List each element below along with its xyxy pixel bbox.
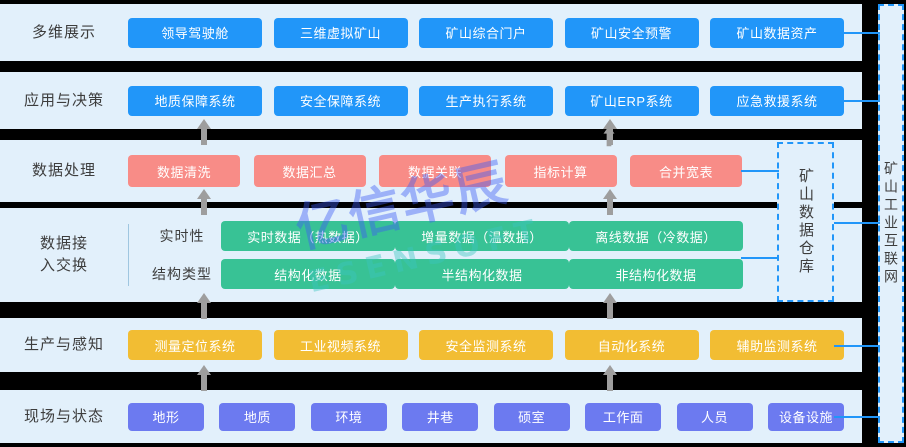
- node-leader-cockpit[interactable]: 领导驾驶舱: [128, 18, 262, 48]
- node-3d-virtual-mine[interactable]: 三维虚拟矿山: [274, 18, 408, 48]
- mine-data-warehouse-box[interactable]: 矿山数据仓库: [777, 142, 834, 302]
- node-unstructured-data[interactable]: 非结构化数据: [569, 259, 743, 289]
- node-terrain[interactable]: 地形: [128, 403, 204, 431]
- access-sub-row-realtime: 实时性 实时数据（热数据） 增量数据（温数据） 离线数据（冷数据）: [143, 221, 743, 251]
- layer-row-production: 生产与感知 测量定位系统 工业视频系统 安全监测系统 自动化系统 辅助监测系统: [0, 318, 862, 372]
- node-industrial-video-system[interactable]: 工业视频系统: [274, 330, 408, 360]
- architecture-diagram: 亿信华辰 ESENSOFT 多维展示 领导驾驶舱 三维虚拟矿山 矿山综合门户 矿…: [0, 0, 906, 447]
- access-sub-items-structure: 结构化数据 半结构化数据 非结构化数据: [221, 259, 743, 289]
- node-structured-data[interactable]: 结构化数据: [221, 259, 395, 289]
- node-merge-wide-table[interactable]: 合并宽表: [630, 155, 742, 187]
- connector-processing-to-warehouse: [741, 170, 779, 172]
- access-sub-rows: 实时性 实时数据（热数据） 增量数据（温数据） 离线数据（冷数据） 结构类型 结…: [143, 221, 743, 289]
- node-auxiliary-monitoring-system[interactable]: 辅助监测系统: [710, 330, 844, 360]
- node-chamber[interactable]: 硕室: [494, 403, 570, 431]
- layer-items-presentation: 领导驾驶舱 三维虚拟矿山 矿山综合门户 矿山安全预警 矿山数据资产: [128, 18, 862, 48]
- node-equipment-facilities[interactable]: 设备设施: [768, 403, 844, 431]
- connector-warehouse-to-iiot: [834, 222, 880, 224]
- layer-label-presentation: 多维展示: [0, 22, 128, 44]
- node-environment[interactable]: 环境: [311, 403, 387, 431]
- node-emergency-rescue-system[interactable]: 应急救援系统: [710, 86, 844, 116]
- flow-arrow-up-processing-to-app: [602, 125, 616, 147]
- node-manufacturing-execution-system[interactable]: 生产执行系统: [419, 86, 553, 116]
- layer-items-field: 地形 地质 环境 井巷 硕室 工作面 人员 设备设施: [128, 403, 862, 431]
- access-sub-label-realtime: 实时性: [143, 226, 221, 246]
- layer-label-application: 应用与决策: [0, 90, 128, 112]
- flow-arrow-up-field-to-production-right: [602, 364, 618, 392]
- mine-industrial-internet-label: 矿山工业互联网: [881, 161, 901, 287]
- node-geology-assurance-system[interactable]: 地质保障系统: [128, 86, 262, 116]
- layer-row-presentation: 多维展示 领导驾驶舱 三维虚拟矿山 矿山综合门户 矿山安全预警 矿山数据资产: [0, 4, 862, 61]
- flow-arrow-up-production-to-access-right: [602, 292, 618, 320]
- connector-field-to-iiot: [834, 416, 880, 418]
- node-safety-assurance-system[interactable]: 安全保障系统: [274, 86, 408, 116]
- node-data-aggregation[interactable]: 数据汇总: [254, 155, 366, 187]
- node-roadway[interactable]: 井巷: [402, 403, 478, 431]
- flow-arrow-up-access-to-processing-left: [196, 188, 212, 216]
- access-divider: [128, 224, 129, 286]
- connector-application-to-iiot: [834, 100, 880, 102]
- flow-arrow-up-access-to-processing-right: [602, 188, 618, 216]
- layer-items-application: 地质保障系统 安全保障系统 生产执行系统 矿山ERP系统 应急救援系统: [128, 86, 862, 116]
- flow-arrow-up-production-to-access-left: [196, 292, 212, 320]
- access-sub-label-structure: 结构类型: [143, 264, 221, 284]
- layer-items-production: 测量定位系统 工业视频系统 安全监测系统 自动化系统 辅助监测系统: [128, 330, 862, 360]
- layer-row-field: 现场与状态 地形 地质 环境 井巷 硕室 工作面 人员 设备设施: [0, 390, 862, 443]
- connector-production-to-iiot: [834, 345, 880, 347]
- node-realtime-hot-data[interactable]: 实时数据（热数据）: [221, 221, 395, 251]
- layer-label-processing: 数据处理: [0, 160, 128, 182]
- layer-stack: 多维展示 领导驾驶舱 三维虚拟矿山 矿山综合门户 矿山安全预警 矿山数据资产 应…: [0, 0, 862, 447]
- node-mine-data-assets[interactable]: 矿山数据资产: [710, 18, 844, 48]
- layer-label-access: 数据接 入交换: [0, 233, 128, 277]
- mine-data-warehouse-label: 矿山数据仓库: [795, 168, 816, 276]
- node-data-correlation[interactable]: 数据关联: [379, 155, 491, 187]
- node-mine-portal[interactable]: 矿山综合门户: [419, 18, 553, 48]
- layer-row-access: 数据接 入交换 实时性 实时数据（热数据） 增量数据（温数据） 离线数据（冷数据…: [0, 208, 862, 302]
- layer-label-production: 生产与感知: [0, 334, 128, 356]
- node-safety-monitoring-system[interactable]: 安全监测系统: [419, 330, 553, 360]
- flow-arrow-up-field-to-production-left: [196, 364, 212, 392]
- layer-row-processing: 数据处理 数据清洗 数据汇总 数据关联 指标计算 合并宽表: [0, 140, 862, 202]
- node-geology[interactable]: 地质: [219, 403, 295, 431]
- node-personnel[interactable]: 人员: [677, 403, 753, 431]
- mine-industrial-internet-band[interactable]: 矿山工业互联网: [878, 4, 904, 443]
- layer-items-access: 实时性 实时数据（热数据） 增量数据（温数据） 离线数据（冷数据） 结构类型 结…: [128, 221, 863, 289]
- node-incremental-warm-data[interactable]: 增量数据（温数据）: [395, 221, 569, 251]
- layer-label-field: 现场与状态: [0, 406, 128, 428]
- node-survey-positioning-system[interactable]: 测量定位系统: [128, 330, 262, 360]
- node-semi-structured-data[interactable]: 半结构化数据: [395, 259, 569, 289]
- flow-arrow-up-app-to-presentation-left: [196, 118, 212, 146]
- node-automation-system[interactable]: 自动化系统: [565, 330, 699, 360]
- node-metric-calculation[interactable]: 指标计算: [505, 155, 617, 187]
- access-sub-items-realtime: 实时数据（热数据） 增量数据（温数据） 离线数据（冷数据）: [221, 221, 743, 251]
- node-offline-cold-data[interactable]: 离线数据（冷数据）: [569, 221, 743, 251]
- node-data-cleaning[interactable]: 数据清洗: [128, 155, 240, 187]
- layer-row-application: 应用与决策 地质保障系统 安全保障系统 生产执行系统 矿山ERP系统 应急救援系…: [0, 72, 862, 129]
- connector-access-to-warehouse: [741, 257, 779, 259]
- node-working-face[interactable]: 工作面: [585, 403, 661, 431]
- node-mine-erp-system[interactable]: 矿山ERP系统: [565, 86, 699, 116]
- node-mine-safety-warning[interactable]: 矿山安全预警: [565, 18, 699, 48]
- access-sub-row-structure: 结构类型 结构化数据 半结构化数据 非结构化数据: [143, 259, 743, 289]
- connector-presentation-to-iiot: [834, 32, 880, 34]
